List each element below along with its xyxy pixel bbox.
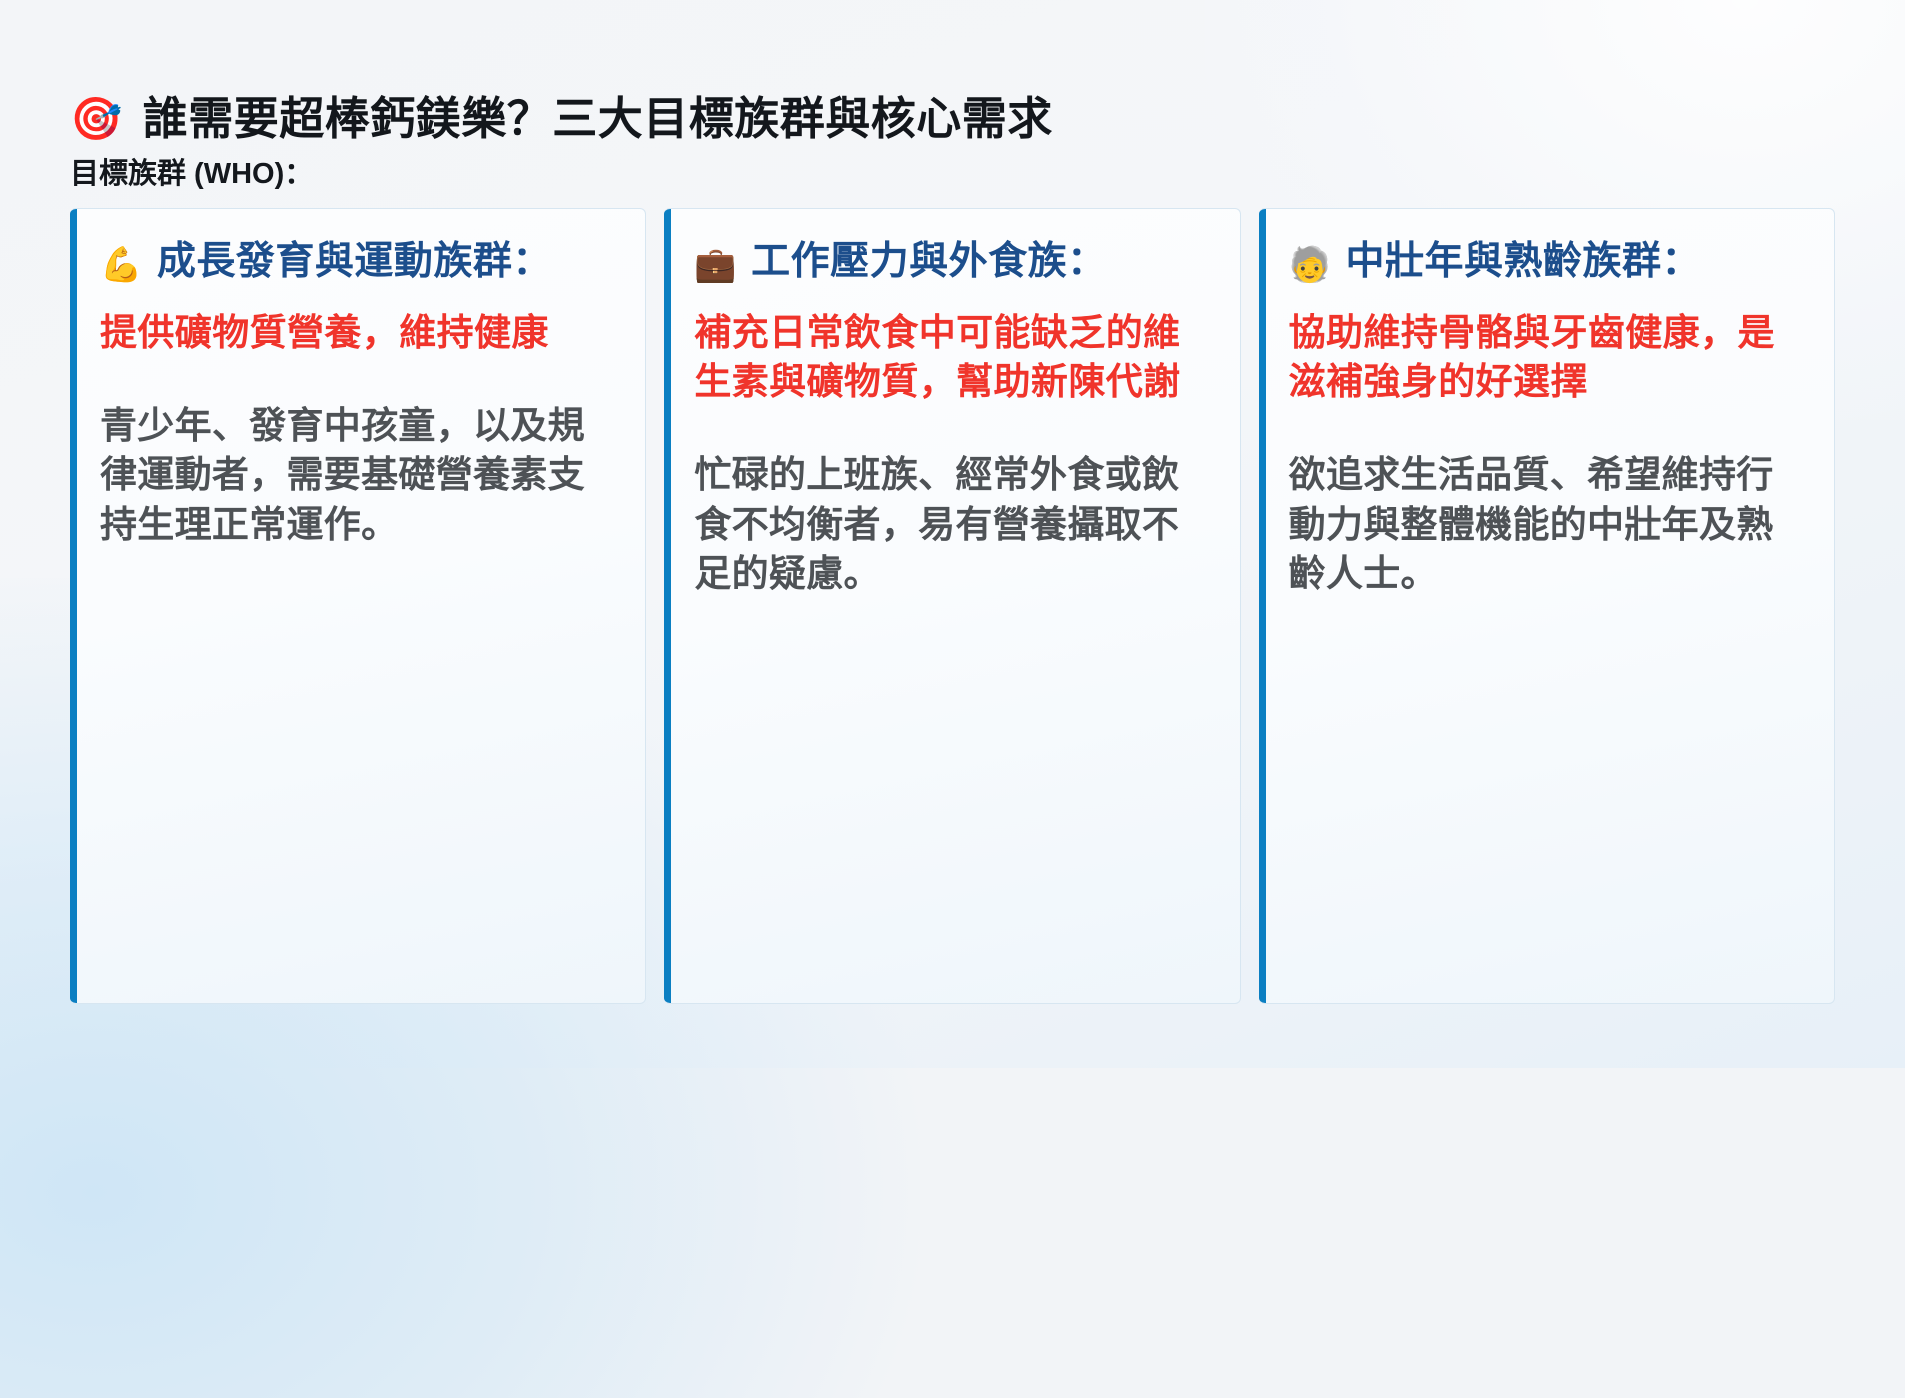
card-claim: 補充日常飲食中可能缺乏的維生素與礦物質，幫助新陳代謝 xyxy=(694,308,1205,406)
card-claim: 提供礦物質營養，維持健康 xyxy=(100,308,611,357)
slide-root: 🎯 誰需要超棒鈣鎂樂？三大目標族群與核心需求 目標族群 (WHO)： 💪成長發育… xyxy=(0,0,1905,1068)
card-heading: 💼工作壓力與外食族： xyxy=(694,237,1205,288)
card-heading: 🧓中壯年與熟齡族群： xyxy=(1289,237,1800,288)
card-heading-text: 中壯年與熟齡族群： xyxy=(1346,240,1702,283)
target-audience-card-row: 💪成長發育與運動族群： 提供礦物質營養，維持健康 青少年、發育中孩童，以及規律運… xyxy=(70,208,1835,1004)
flexed-biceps-icon: 💪 xyxy=(100,246,143,284)
page-title-text: 誰需要超棒鈣鎂樂？三大目標族群與核心需求 xyxy=(143,92,1053,146)
direct-hit-target-icon: 🎯 xyxy=(70,98,123,140)
section-subtitle: 目標族群 (WHO)： xyxy=(70,150,313,192)
card-body: 青少年、發育中孩童，以及規律運動者，需要基礎營養素支持生理正常運作。 xyxy=(100,401,611,550)
card-body: 忙碌的上班族、經常外食或飲食不均衡者，易有營養攝取不足的疑慮。 xyxy=(694,450,1205,599)
audience-card-work-stress-dining-out: 💼工作壓力與外食族： 補充日常飲食中可能缺乏的維生素與礦物質，幫助新陳代謝 忙碌… xyxy=(664,208,1240,1004)
card-heading-text: 成長發育與運動族群： xyxy=(157,240,552,283)
audience-card-growth-sports: 💪成長發育與運動族群： 提供礦物質營養，維持健康 青少年、發育中孩童，以及規律運… xyxy=(70,208,646,1004)
page-title: 🎯 誰需要超棒鈣鎂樂？三大目標族群與核心需求 xyxy=(70,92,1053,146)
card-heading: 💪成長發育與運動族群： xyxy=(100,237,611,288)
card-body: 欲追求生活品質、希望維持行動力與整體機能的中壯年及熟齡人士。 xyxy=(1289,450,1800,599)
older-person-icon: 🧓 xyxy=(1289,246,1332,284)
card-claim: 協助維持骨骼與牙齒健康，是滋補強身的好選擇 xyxy=(1289,308,1800,406)
card-heading-text: 工作壓力與外食族： xyxy=(751,240,1107,283)
audience-card-middle-aged-senior: 🧓中壯年與熟齡族群： 協助維持骨骼與牙齒健康，是滋補強身的好選擇 欲追求生活品質… xyxy=(1259,208,1835,1004)
briefcase-icon: 💼 xyxy=(694,246,737,284)
